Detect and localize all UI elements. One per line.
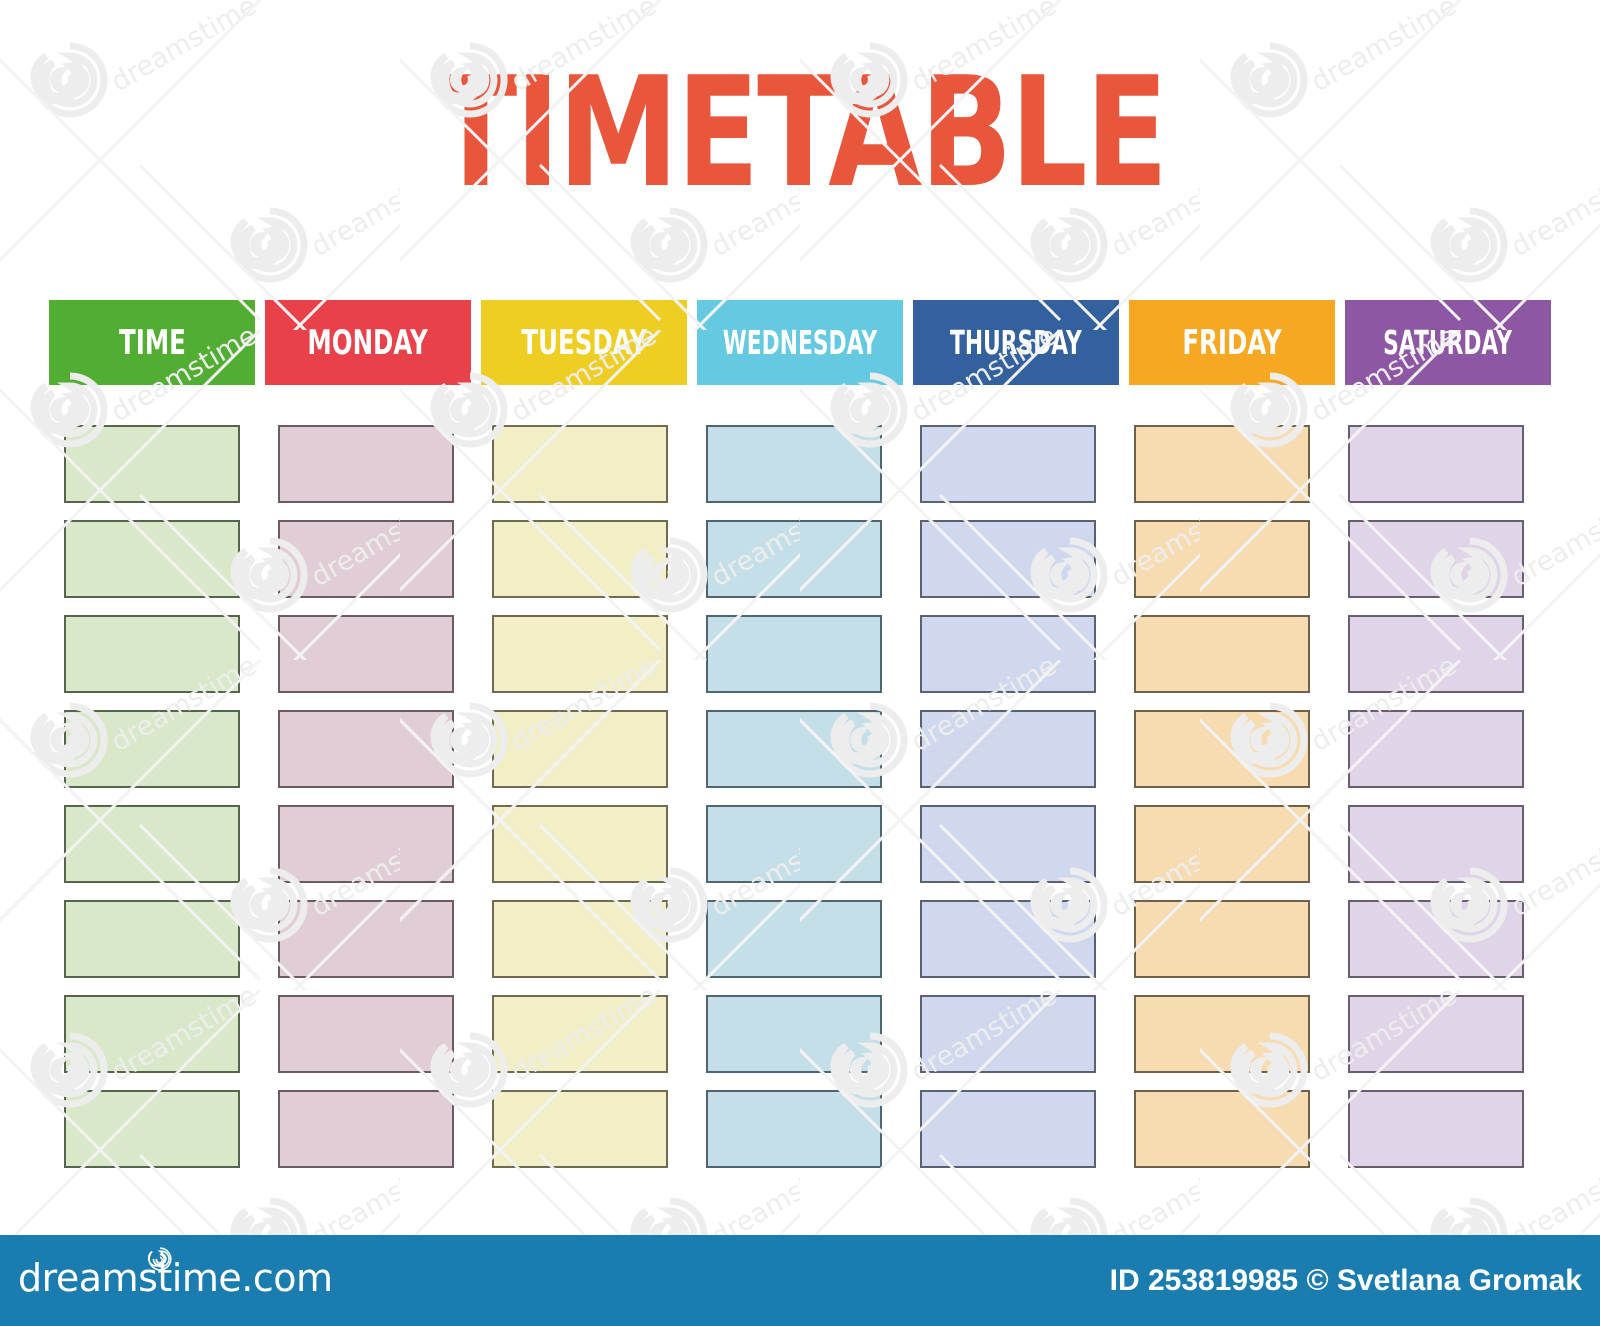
table-row bbox=[64, 995, 1570, 1073]
schedule-cell-wednesday-1[interactable] bbox=[706, 425, 882, 503]
schedule-cell-tuesday-1[interactable] bbox=[492, 425, 668, 503]
schedule-cell-monday-6[interactable] bbox=[278, 900, 454, 978]
schedule-cell-saturday-8[interactable] bbox=[1348, 1090, 1524, 1168]
column-header-label: SATURDAY bbox=[1384, 326, 1513, 360]
image-credit: ID 253819985 © Svetlana Gromak bbox=[1110, 1263, 1582, 1299]
schedule-cell-time-4[interactable] bbox=[64, 710, 240, 788]
column-header-label: TIME bbox=[119, 326, 186, 360]
timetable-body bbox=[49, 425, 1555, 1168]
schedule-cell-monday-7[interactable] bbox=[278, 995, 454, 1073]
table-row bbox=[64, 710, 1570, 788]
spiral-icon bbox=[148, 1247, 172, 1271]
schedule-cell-thursday-2[interactable] bbox=[920, 520, 1096, 598]
stock-footer-bar: dreamstime.com ID 253819985 © Svetlana G… bbox=[0, 1235, 1600, 1326]
timetable-header-row: TIMEMONDAYTUESDAYWEDNESDAYTHURSDAYFRIDAY… bbox=[49, 300, 1555, 385]
page-title-container: TIMETABLE bbox=[0, 58, 1600, 208]
table-row bbox=[64, 805, 1570, 883]
schedule-cell-friday-3[interactable] bbox=[1134, 615, 1310, 693]
schedule-cell-friday-2[interactable] bbox=[1134, 520, 1310, 598]
schedule-cell-thursday-4[interactable] bbox=[920, 710, 1096, 788]
table-row bbox=[64, 900, 1570, 978]
schedule-cell-monday-2[interactable] bbox=[278, 520, 454, 598]
schedule-cell-monday-1[interactable] bbox=[278, 425, 454, 503]
schedule-cell-tuesday-6[interactable] bbox=[492, 900, 668, 978]
table-row bbox=[64, 615, 1570, 693]
schedule-cell-friday-7[interactable] bbox=[1134, 995, 1310, 1073]
schedule-cell-time-6[interactable] bbox=[64, 900, 240, 978]
schedule-cell-thursday-5[interactable] bbox=[920, 805, 1096, 883]
schedule-cell-time-5[interactable] bbox=[64, 805, 240, 883]
column-header-tuesday[interactable]: TUESDAY bbox=[481, 300, 687, 385]
schedule-cell-time-2[interactable] bbox=[64, 520, 240, 598]
schedule-cell-time-7[interactable] bbox=[64, 995, 240, 1073]
schedule-cell-time-8[interactable] bbox=[64, 1090, 240, 1168]
schedule-cell-tuesday-3[interactable] bbox=[492, 615, 668, 693]
column-header-saturday[interactable]: SATURDAY bbox=[1345, 300, 1551, 385]
schedule-cell-tuesday-8[interactable] bbox=[492, 1090, 668, 1168]
schedule-cell-friday-6[interactable] bbox=[1134, 900, 1310, 978]
schedule-cell-saturday-7[interactable] bbox=[1348, 995, 1524, 1073]
schedule-cell-wednesday-3[interactable] bbox=[706, 615, 882, 693]
timetable-grid: TIMEMONDAYTUESDAYWEDNESDAYTHURSDAYFRIDAY… bbox=[49, 300, 1555, 1168]
column-header-friday[interactable]: FRIDAY bbox=[1129, 300, 1335, 385]
schedule-cell-wednesday-6[interactable] bbox=[706, 900, 882, 978]
schedule-cell-friday-4[interactable] bbox=[1134, 710, 1310, 788]
schedule-cell-saturday-5[interactable] bbox=[1348, 805, 1524, 883]
schedule-cell-monday-5[interactable] bbox=[278, 805, 454, 883]
table-row bbox=[64, 520, 1570, 598]
column-header-label: WEDNESDAY bbox=[723, 326, 877, 360]
schedule-cell-wednesday-7[interactable] bbox=[706, 995, 882, 1073]
column-header-label: FRIDAY bbox=[1182, 326, 1281, 360]
schedule-cell-thursday-6[interactable] bbox=[920, 900, 1096, 978]
schedule-cell-time-3[interactable] bbox=[64, 615, 240, 693]
column-header-wednesday[interactable]: WEDNESDAY bbox=[697, 300, 903, 385]
schedule-cell-thursday-1[interactable] bbox=[920, 425, 1096, 503]
schedule-cell-saturday-3[interactable] bbox=[1348, 615, 1524, 693]
schedule-cell-thursday-7[interactable] bbox=[920, 995, 1096, 1073]
column-header-label: THURSDAY bbox=[950, 326, 1082, 360]
schedule-cell-thursday-3[interactable] bbox=[920, 615, 1096, 693]
schedule-cell-tuesday-5[interactable] bbox=[492, 805, 668, 883]
schedule-cell-saturday-4[interactable] bbox=[1348, 710, 1524, 788]
schedule-cell-thursday-8[interactable] bbox=[920, 1090, 1096, 1168]
column-header-monday[interactable]: MONDAY bbox=[265, 300, 471, 385]
schedule-cell-wednesday-2[interactable] bbox=[706, 520, 882, 598]
page-title: TIMETABLE bbox=[434, 58, 1166, 208]
schedule-cell-monday-4[interactable] bbox=[278, 710, 454, 788]
schedule-cell-tuesday-4[interactable] bbox=[492, 710, 668, 788]
schedule-cell-friday-8[interactable] bbox=[1134, 1090, 1310, 1168]
schedule-cell-friday-5[interactable] bbox=[1134, 805, 1310, 883]
column-header-time[interactable]: TIME bbox=[49, 300, 255, 385]
schedule-cell-wednesday-8[interactable] bbox=[706, 1090, 882, 1168]
column-header-thursday[interactable]: THURSDAY bbox=[913, 300, 1119, 385]
schedule-cell-wednesday-4[interactable] bbox=[706, 710, 882, 788]
schedule-cell-wednesday-5[interactable] bbox=[706, 805, 882, 883]
column-header-label: MONDAY bbox=[308, 326, 428, 360]
schedule-cell-saturday-6[interactable] bbox=[1348, 900, 1524, 978]
schedule-cell-monday-8[interactable] bbox=[278, 1090, 454, 1168]
dreamstime-logo[interactable]: dreamstime.com bbox=[18, 1255, 332, 1301]
schedule-cell-tuesday-2[interactable] bbox=[492, 520, 668, 598]
schedule-cell-monday-3[interactable] bbox=[278, 615, 454, 693]
schedule-cell-friday-1[interactable] bbox=[1134, 425, 1310, 503]
schedule-cell-tuesday-7[interactable] bbox=[492, 995, 668, 1073]
schedule-cell-time-1[interactable] bbox=[64, 425, 240, 503]
table-row bbox=[64, 425, 1570, 503]
schedule-cell-saturday-1[interactable] bbox=[1348, 425, 1524, 503]
table-row bbox=[64, 1090, 1570, 1168]
column-header-label: TUESDAY bbox=[521, 326, 647, 360]
schedule-cell-saturday-2[interactable] bbox=[1348, 520, 1524, 598]
